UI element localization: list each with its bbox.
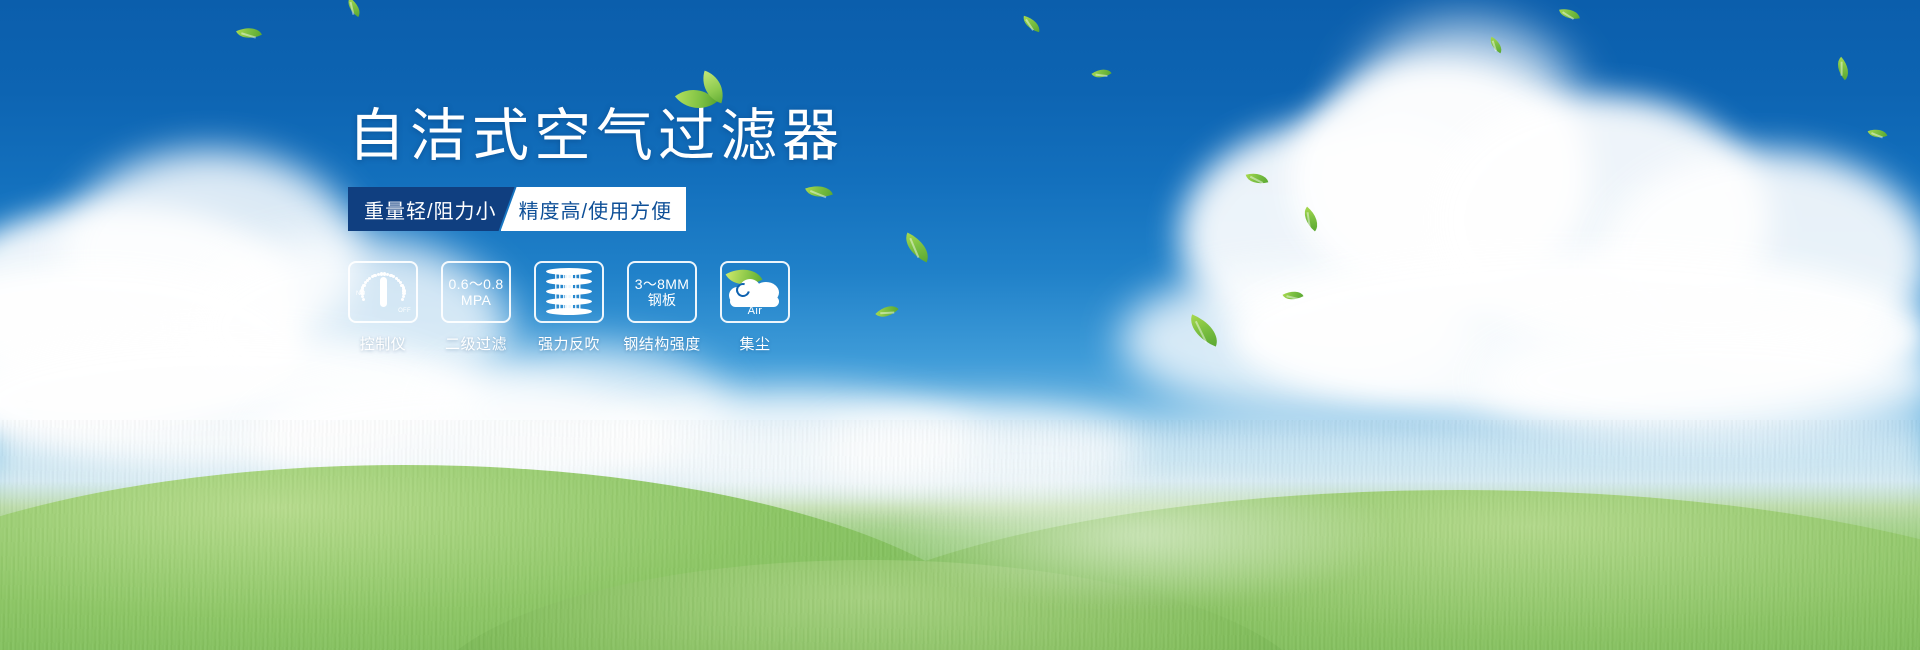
feature-caption: 二级过滤 xyxy=(445,333,507,354)
floating-leaf-icon xyxy=(236,22,262,44)
feature-icon-box: 3～8MM 钢板 xyxy=(627,261,697,323)
gauge-tick xyxy=(362,298,365,301)
cloud-shape xyxy=(1430,95,1770,345)
pressure-icon: 0.6～0.8 MPA xyxy=(448,276,503,308)
cartridge-disc xyxy=(546,288,592,295)
feature-caption: 集尘 xyxy=(739,333,770,354)
cloud-shape xyxy=(0,205,300,395)
page-title: 自洁式空气过滤器 xyxy=(348,108,1108,165)
cartridge-disc xyxy=(546,298,592,305)
feature-caption: 钢结构强度 xyxy=(623,333,701,354)
feature-icon-box: NO OFF xyxy=(348,261,418,323)
tagline-pill-group: 重量轻/阻力小 精度高/使用方便 xyxy=(348,187,673,231)
cloud-shape xyxy=(1120,270,1480,410)
feature-caption: 控制仪 xyxy=(360,333,407,354)
floating-leaf-icon xyxy=(1282,286,1303,304)
cartridge-icon xyxy=(546,268,592,316)
air-label: Air xyxy=(727,305,783,317)
steel-thickness: 3～8MM xyxy=(635,276,689,292)
floating-leaf-icon xyxy=(1868,125,1888,141)
grass-field xyxy=(0,420,1920,650)
floating-leaf-icon xyxy=(1559,6,1580,21)
floating-leaf-icon xyxy=(1184,314,1223,346)
feature-icon-box xyxy=(534,261,604,323)
cloud-shape xyxy=(1350,20,1580,200)
pressure-unit: MPA xyxy=(448,292,503,308)
floating-leaf-icon xyxy=(1021,16,1042,33)
feature-list: NO OFF 控制仪 0.6～0.8 MPA 二级过滤 xyxy=(348,261,1108,354)
feature-icon-box: 0.6～0.8 MPA xyxy=(441,261,511,323)
floating-leaf-icon xyxy=(343,0,364,17)
cloud-shape xyxy=(1180,120,1510,350)
cartridge-disc xyxy=(546,268,592,275)
air-cloud-icon: Air xyxy=(727,269,783,315)
tagline-pill-primary: 重量轻/阻力小 xyxy=(348,187,515,231)
hero-banner: 自洁式空气过滤器 重量轻/阻力小 精度高/使用方便 NO OFF 控制仪 xyxy=(0,0,1920,650)
feature-item: 3～8MM 钢板 钢结构强度 xyxy=(627,261,697,354)
cartridge-disc xyxy=(546,278,592,285)
banner-content: 自洁式空气过滤器 重量轻/阻力小 精度高/使用方便 NO OFF 控制仪 xyxy=(348,108,1108,354)
feature-icon-box: Air xyxy=(720,261,790,323)
cartridge-disc xyxy=(546,308,592,315)
gauge-needle-icon xyxy=(380,277,387,307)
feature-item: 0.6～0.8 MPA 二级过滤 xyxy=(441,261,511,354)
cloud-shape xyxy=(1230,250,1920,420)
steel-icon: 3～8MM 钢板 xyxy=(635,276,689,308)
tagline-pill-secondary: 精度高/使用方便 xyxy=(501,187,687,231)
gauge-label-right: OFF xyxy=(398,308,411,314)
gauge-tick xyxy=(362,284,365,287)
floating-leaf-icon xyxy=(1246,170,1269,188)
steel-material: 钢板 xyxy=(635,292,689,308)
feature-caption: 强力反吹 xyxy=(538,333,600,354)
gauge-icon: NO OFF xyxy=(357,269,409,315)
feature-item: NO OFF 控制仪 xyxy=(348,261,418,354)
floating-leaf-icon xyxy=(1091,64,1111,83)
title-wrapper: 自洁式空气过滤器 xyxy=(348,108,1108,165)
cloud-shape xyxy=(60,150,360,360)
cloud-shape xyxy=(0,265,300,435)
gauge-tick xyxy=(401,298,404,301)
cloud-shape xyxy=(1600,150,1920,370)
sun-glow xyxy=(880,460,1400,610)
floating-leaf-icon xyxy=(1298,207,1324,232)
floating-leaf-icon xyxy=(1487,37,1506,54)
cloud-shape xyxy=(1290,60,1590,300)
pressure-value: 0.6～0.8 xyxy=(448,276,503,292)
floating-leaf-icon xyxy=(1831,57,1854,81)
feature-item: Air 集尘 xyxy=(720,261,790,354)
feature-item: 强力反吹 xyxy=(534,261,604,354)
